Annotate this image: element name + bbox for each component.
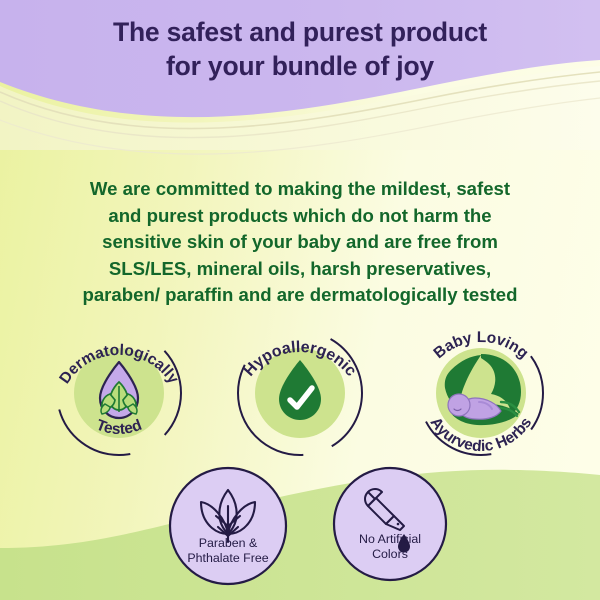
badge-no-artificial-colors[interactable]: No Artificial Colors [332, 466, 448, 582]
body-line-5: paraben/ paraffin and are dermatological… [0, 282, 600, 309]
body-line-4: SLS/LES, mineral oils, harsh preservativ… [0, 256, 600, 283]
badge-paraben-phthalate-free[interactable]: Paraben & Phthalate Free [168, 466, 288, 586]
body-line-2: and purest products which do not harm th… [0, 203, 600, 230]
page-title-line-2: for your bundle of joy [0, 50, 600, 84]
certification-badge-row-bottom: Paraben & Phthalate Free [0, 462, 600, 590]
badge-label: No Artificial Colors [332, 532, 448, 562]
badge-label-line-1: Paraben & [168, 536, 288, 551]
badge-label-line-1: No Artificial [332, 532, 448, 547]
badge-label-line-2: Phthalate Free [168, 551, 288, 566]
badge-hypoallergenic[interactable]: Hypoallergenic [225, 318, 375, 464]
body-line-1: We are committed to making the mildest, … [0, 176, 600, 203]
badge-label-line-2: Colors [332, 547, 448, 562]
body-paragraph: We are committed to making the mildest, … [0, 176, 600, 309]
badge-dermatologically-tested[interactable]: Dermatologically Tested [44, 318, 194, 464]
body-line-3: sensitive skin of your baby and are free… [0, 229, 600, 256]
badge-baby-loving-ayurvedic-herbs[interactable]: Baby Loving Ayurvedic Herbs [405, 318, 557, 464]
certification-badge-row-top: Dermatologically Tested H [0, 318, 600, 464]
page-title-line-1: The safest and purest product [113, 17, 487, 47]
badge-label: Paraben & Phthalate Free [168, 536, 288, 566]
page-title: The safest and purest product for your b… [0, 16, 600, 84]
promo-card: The safest and purest product for your b… [0, 0, 600, 600]
